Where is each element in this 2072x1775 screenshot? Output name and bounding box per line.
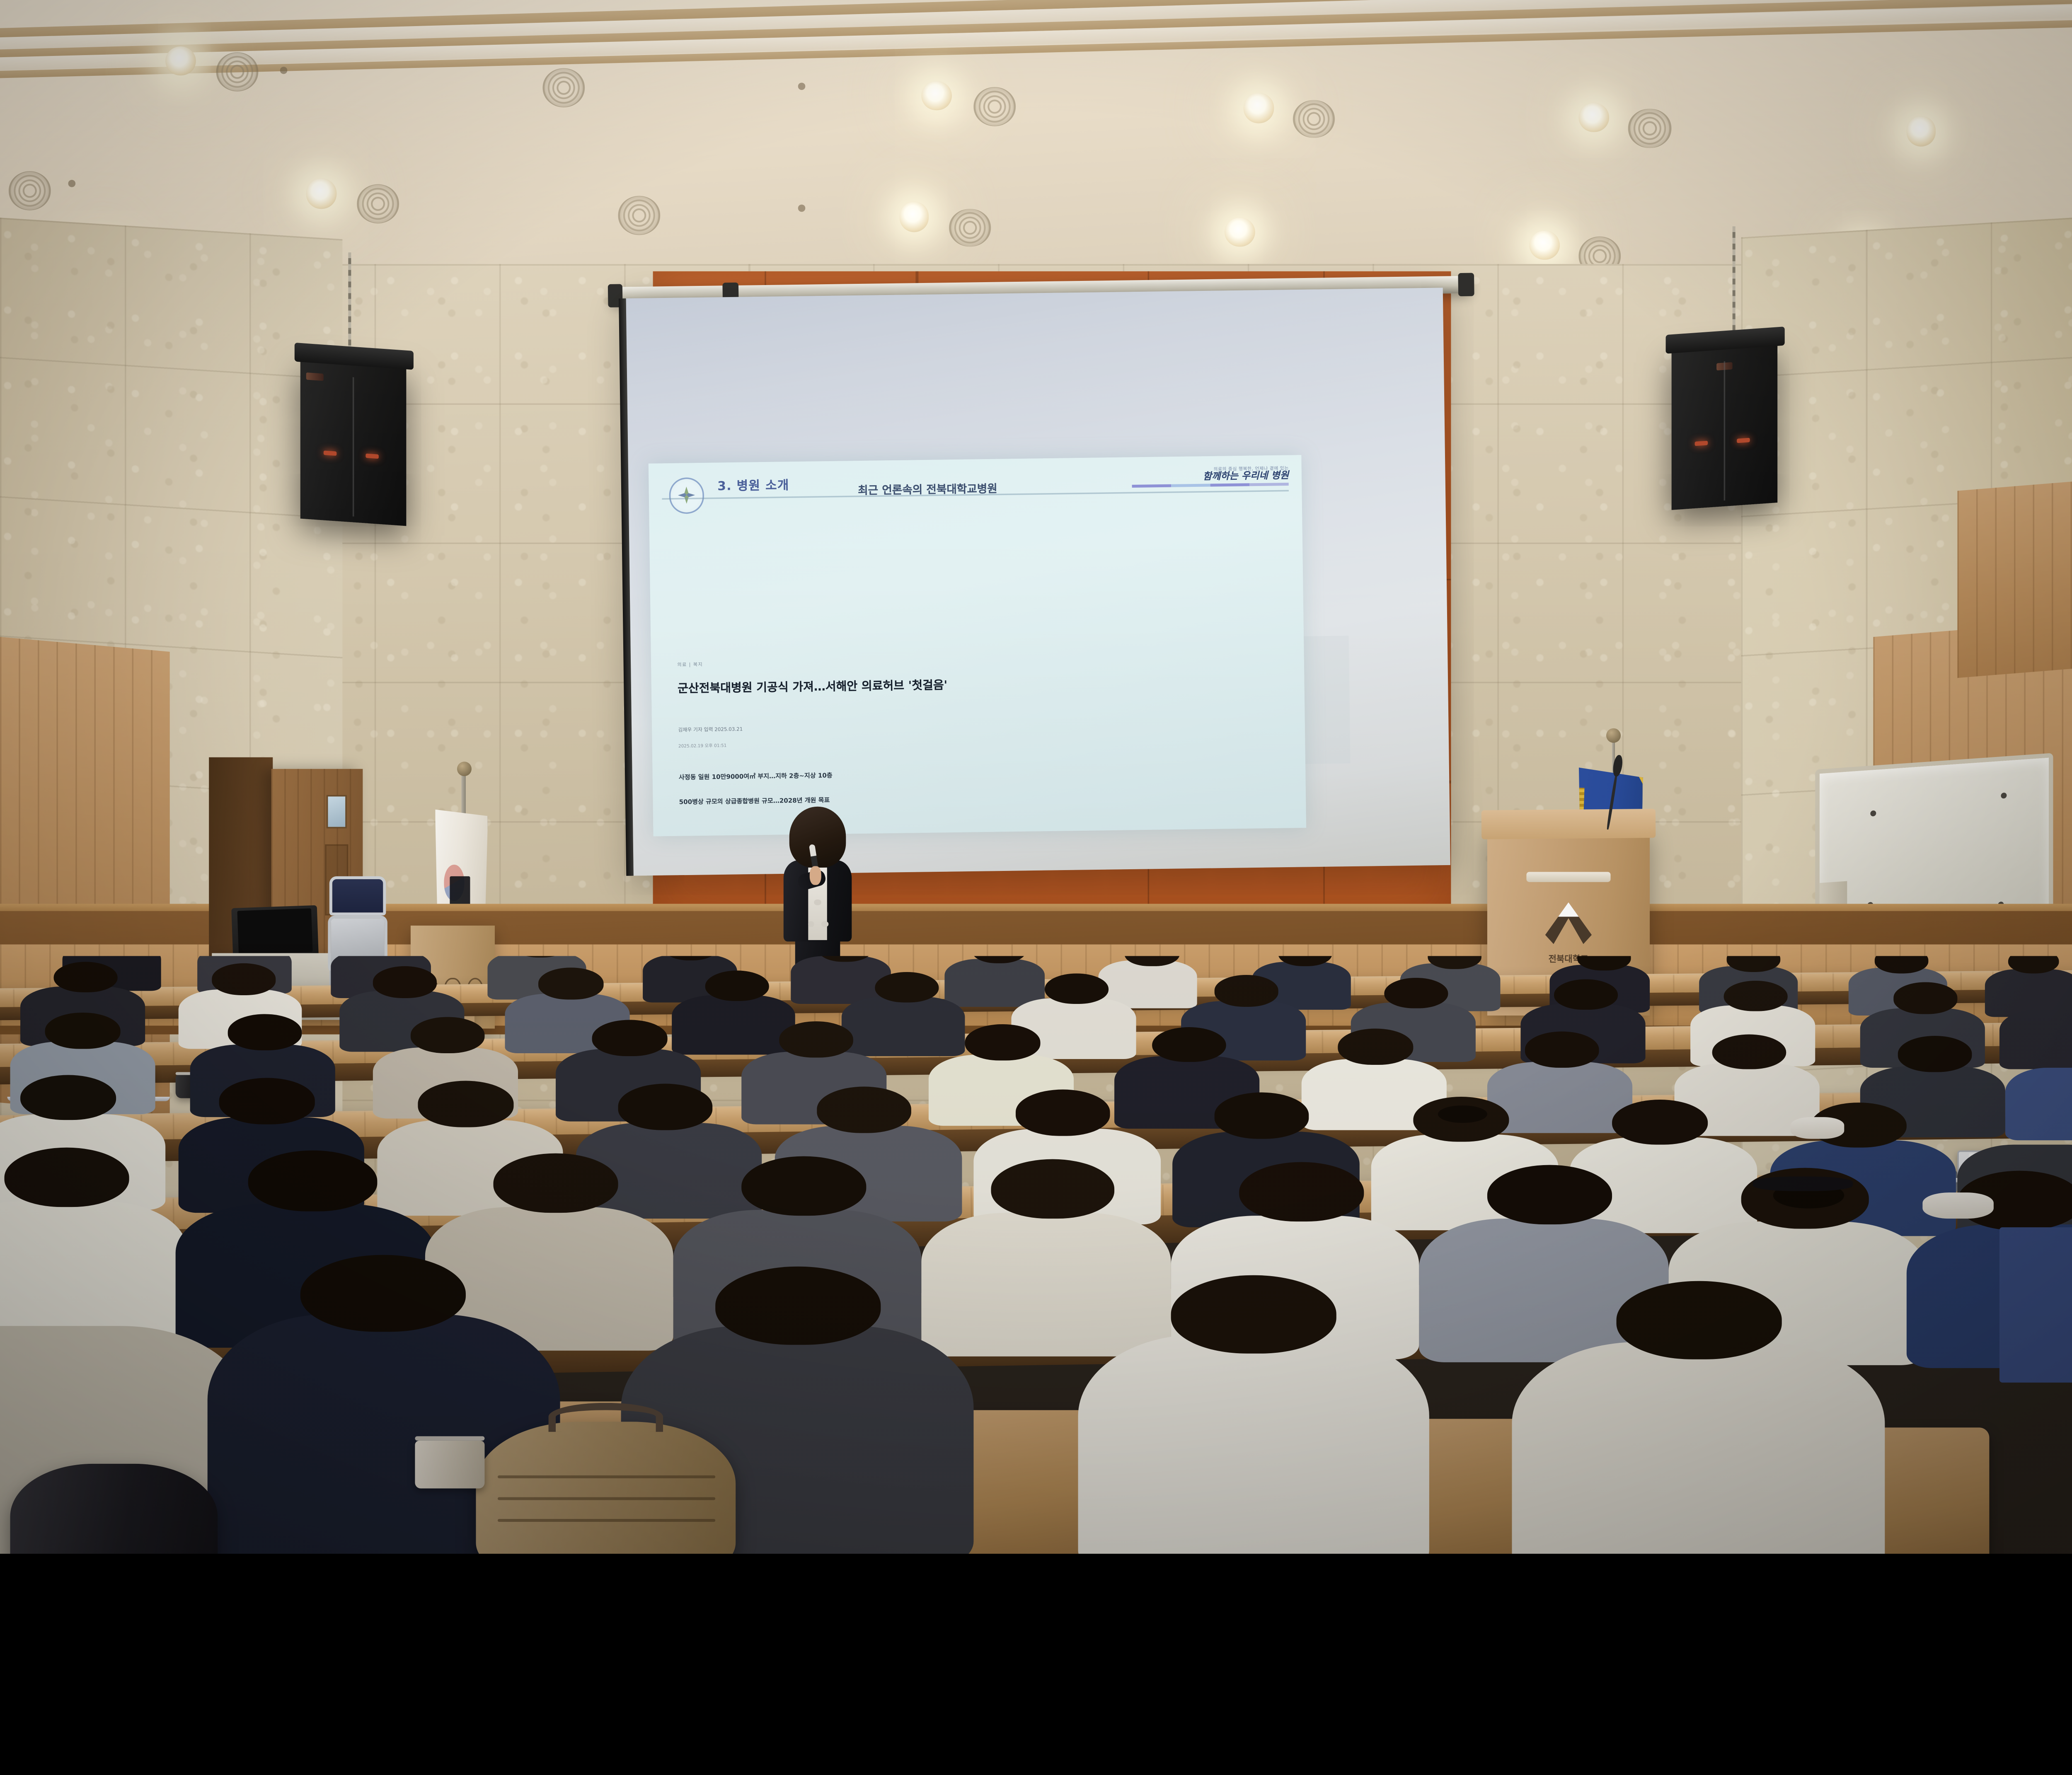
attendee [0, 1201, 186, 1344]
attendee-head [220, 1078, 315, 1124]
air-diffuser [8, 171, 51, 210]
attendee-head [966, 1024, 1040, 1060]
attendee [671, 995, 796, 1054]
podium-light-strip [1527, 872, 1611, 883]
lecture-hall-photo: 3. 병원 소개 최근 언론속의 전북대학교병원 의료의 중심 행복한, 언제나… [0, 0, 2072, 1554]
downlight [1579, 102, 1609, 132]
attendee-head [1339, 1029, 1413, 1065]
ceiling-screw [798, 82, 805, 89]
air-diffuser [617, 196, 660, 235]
presenter-hair [789, 806, 846, 868]
wood-wall-panel-right-upper [1958, 481, 2072, 677]
air-diffuser [974, 87, 1016, 126]
attendee-head [21, 1075, 116, 1121]
ceiling-screw [280, 67, 287, 74]
news-lead-line-1: 사정동 일원 10만9000여㎡ 부지…지하 2층~지상 10층 [679, 774, 833, 786]
downlight [307, 179, 336, 208]
backpack [10, 1464, 218, 1554]
pa-speaker-right [1672, 344, 1778, 510]
news-headline: 군산전북대병원 기공식 가져…서해안 의료허브 '첫걸음' [678, 677, 948, 697]
downlight [1225, 218, 1254, 247]
air-diffuser [543, 68, 585, 107]
face-mask [1923, 1192, 1993, 1219]
attendee-head [373, 966, 437, 997]
downlight [1243, 93, 1273, 123]
downlight [1906, 116, 1936, 146]
attendee-head [1525, 1032, 1600, 1068]
face-mask [1790, 1117, 1844, 1139]
door-vision-panel [326, 795, 346, 828]
attendee-head [1044, 973, 1109, 1004]
attendee-head [419, 1081, 514, 1127]
attendee-foreground [1513, 1341, 1886, 1554]
downlight [1529, 230, 1559, 259]
news-kicker: 의료 | 복지 [678, 660, 703, 668]
attendee-head [779, 1022, 854, 1058]
attendee [945, 958, 1044, 1006]
hair-bow [1753, 1177, 1852, 1191]
attendee-head [1015, 1090, 1111, 1136]
attendee-head [4, 1147, 128, 1207]
attendee-head [54, 962, 118, 993]
hair-bun [1438, 1105, 1488, 1123]
presenter-hand [809, 866, 821, 886]
attendee [1999, 1009, 2072, 1069]
presentation-slide: 3. 병원 소개 최근 언론속의 전북대학교병원 의료의 중심 행복한, 언제나… [649, 455, 1307, 836]
attendee-head [1894, 982, 1958, 1013]
attendee [841, 997, 966, 1057]
downlight [899, 202, 929, 231]
attendee-head [493, 1153, 617, 1213]
slide-header: 3. 병원 소개 최근 언론속의 전북대학교병원 의료의 중심 행복한, 언제나… [649, 455, 1302, 538]
attendee-head [1214, 975, 1278, 1006]
attendee-head [211, 964, 276, 995]
attendee-head [1616, 1282, 1782, 1359]
attendee-head [1711, 1034, 1786, 1070]
attendee-head [1724, 981, 1788, 1012]
attendee-head [539, 968, 603, 999]
attendee-head [1214, 1093, 1310, 1139]
attendee [1488, 1062, 1633, 1133]
attendee-head [1898, 1036, 1973, 1072]
attendee-head [1488, 1165, 1612, 1225]
hospital-emblem-icon [668, 478, 705, 514]
attendee-head [742, 1156, 866, 1216]
backpack [477, 1422, 736, 1554]
attendee-head [816, 1087, 912, 1133]
attendee-head [874, 972, 939, 1003]
pa-speaker-left [300, 360, 406, 526]
slide-subtitle: 최근 언론속의 전북대학교병원 [858, 481, 997, 499]
downlight [922, 81, 952, 110]
attendee-head [249, 1150, 377, 1211]
attendee-head [593, 1020, 667, 1056]
podium-top [1481, 809, 1656, 839]
slogan-color-bar [1132, 484, 1289, 488]
hospital-slogan: 의료의 중심 행복한, 언제나 곁에 있는 함께하는 우리네 병원 [1203, 467, 1289, 483]
attendee-head [990, 1159, 1115, 1219]
attendee-head [46, 1012, 120, 1048]
attendee-head [1152, 1027, 1227, 1063]
lanyard [1999, 1228, 2072, 1383]
attendee-head [300, 1255, 466, 1332]
slogan-main-text: 함께하는 우리네 병원 [1203, 472, 1289, 483]
attendee-head [1171, 1276, 1336, 1354]
news-byline: 김재우 기자 입력 2025.03.21 [678, 725, 743, 733]
news-date: 2025.02.19 오후 01:51 [678, 743, 727, 750]
audience [0, 955, 2072, 1554]
attendee-head [1612, 1099, 1707, 1145]
attendee-head [228, 1015, 303, 1051]
air-diffuser [1629, 109, 1671, 148]
attendee [2006, 1068, 2072, 1140]
attendee-head [1239, 1162, 1363, 1221]
projection-screen: 3. 병원 소개 최근 언론속의 전북대학교병원 의료의 중심 행복한, 언제나… [626, 288, 1450, 877]
tumbler [414, 1440, 485, 1488]
attendee [922, 1213, 1171, 1356]
chevron-logo-icon [1536, 902, 1601, 944]
attendee-head [410, 1017, 485, 1053]
attendee-foreground [1077, 1335, 1430, 1554]
attendee-head [1554, 979, 1618, 1010]
attendee-head [617, 1084, 713, 1130]
slide-section-number: 3. 병원 소개 [717, 476, 789, 495]
attendee-head [715, 1267, 881, 1345]
av-monitor [231, 906, 318, 958]
